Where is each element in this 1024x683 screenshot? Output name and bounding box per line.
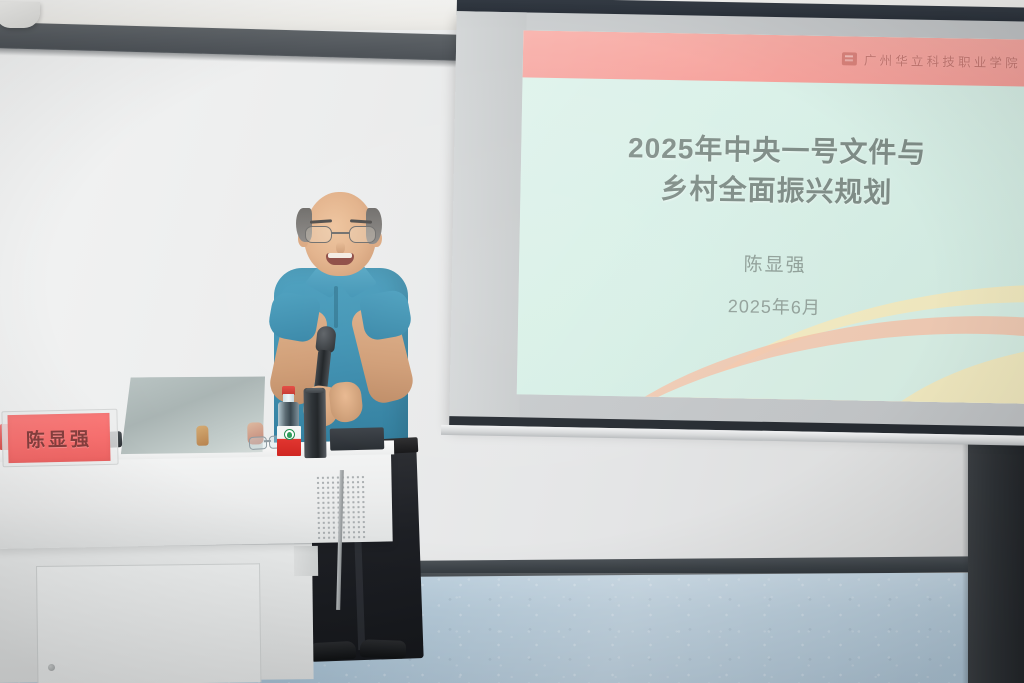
lectern-side-panel [294, 546, 318, 576]
ceiling-speaker-icon [0, 2, 40, 28]
university-crest-icon [842, 52, 857, 65]
bottle-brand-icon [284, 429, 295, 440]
laptop-lid [119, 374, 267, 456]
slide-institution-name: 广州华立科技职业学院 [864, 50, 1021, 72]
slide-title: 2025年中央一号文件与 乡村全面振兴规划 [520, 126, 1024, 215]
eyeglass-lens-right [349, 226, 376, 243]
presenter-mouth [326, 253, 354, 265]
microphone-head [315, 325, 337, 353]
eyeglass-bridge [331, 232, 350, 234]
placard-card: 陈显强 [7, 413, 110, 463]
screen-surface: 广州华立科技职业学院 2025年中央一号文件与 乡村全面振兴规划 陈显强 202… [517, 30, 1024, 403]
slide-logo: 广州华立科技职业学院 [842, 49, 1021, 71]
water-bottle [276, 386, 302, 460]
thermos-flask [304, 388, 327, 458]
name-placard: 陈显强 [7, 413, 110, 463]
placard-name-text: 陈显强 [26, 424, 93, 452]
desk-eyeglass-lens-left [249, 436, 268, 450]
slide-decor-cut-1 [594, 265, 1024, 403]
lectern-cabinet-handle[interactable] [48, 664, 55, 671]
slide-author: 陈显强 [519, 245, 1024, 281]
photo-scene: 广州华立科技职业学院 2025年中央一号文件与 乡村全面振兴规划 陈显强 202… [0, 0, 1024, 683]
presenter-shirt-placket [334, 286, 338, 328]
slide-decor-yellow-2 [837, 324, 1024, 404]
screen-sheen [517, 30, 1024, 403]
lectern [0, 448, 394, 683]
presenter-teeth [328, 253, 352, 258]
slide-title-line-2: 乡村全面振兴规划 [520, 166, 1024, 215]
slide-header-band: 广州华立科技职业学院 [523, 30, 1024, 86]
right-pillar [968, 440, 1024, 683]
dark-desk-object [330, 427, 385, 450]
slide-date: 2025年6月 [518, 288, 1024, 323]
eyeglass-lens-left [305, 226, 332, 243]
laptop[interactable] [113, 374, 267, 460]
projection-screen: 广州华立科技职业学院 2025年中央一号文件与 乡村全面振兴规划 陈显强 202… [441, 0, 1024, 448]
slide-canvas: 广州华立科技职业学院 2025年中央一号文件与 乡村全面振兴规划 陈显强 202… [517, 30, 1024, 403]
laptop-sticker-1 [196, 426, 208, 446]
lectern-cabinet-door[interactable] [36, 563, 261, 683]
